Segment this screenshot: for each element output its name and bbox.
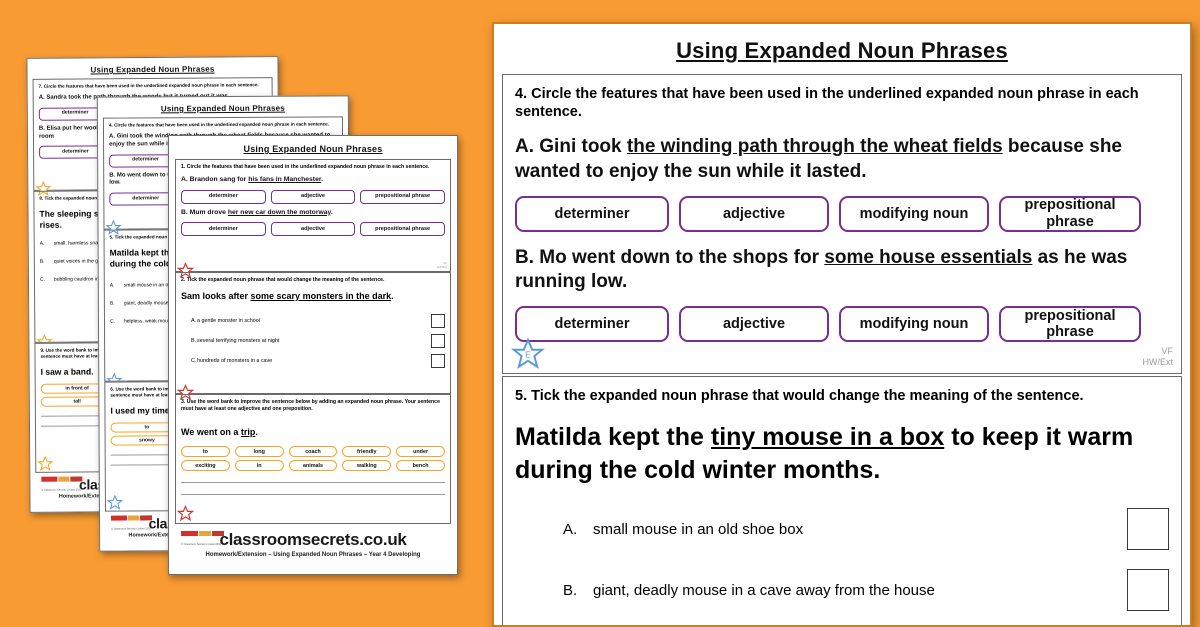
underlined-phrase: tiny mouse in a box [711,423,944,451]
copyright-text: © Classroom Secrets Limited 2020 [41,489,81,492]
option-determiner[interactable]: determiner [181,222,266,236]
q4-options-a: determiner adjective modifying noun prep… [515,196,1169,232]
star-icon [106,373,122,382]
tick-checkbox[interactable] [431,334,445,348]
sentence-prefix: We went on a [181,427,241,437]
thumb3-q3-sentence: We went on a trip. [181,427,445,439]
tick-checkbox[interactable] [1127,569,1169,611]
choice-label: B. [563,582,593,599]
choice-label: A. [40,241,54,247]
thumb3-q2-sentence: Sam looks after some scary monsters in t… [181,291,445,303]
star-icon [177,505,194,522]
q5-heading: 5. Tick the expanded noun phrase that wo… [515,387,1169,405]
copyright-text: © Classroom Secrets Limited 2020 [181,543,221,546]
option-adjective[interactable]: adjective [271,222,356,236]
choice-text: hundreds of monsters in a cave [197,358,272,364]
q5-sentence: Matilda kept the tiny mouse in a box to … [515,421,1169,486]
q4-options-b: determiner adjective modifying noun prep… [515,306,1169,342]
underlined-phrase: the winding path through the wheat field… [627,136,1003,157]
thumb3-q3-heading: 3. Use the word bank to improve the sent… [181,399,445,413]
sentence-prefix: A. Gini took [515,136,627,157]
word-bank-item[interactable]: animals [289,460,338,471]
q4-corner-mark: VF HW/Ext [1143,346,1174,367]
list-item[interactable]: B. giant, deadly mouse in a cave away fr… [515,569,1169,611]
star-icon [107,495,123,511]
choice-label: A. [181,318,197,324]
svg-text:E: E [525,350,531,360]
word-bank-item[interactable]: long [235,446,284,457]
word-bank-item[interactable]: exciting [181,460,230,471]
q4-sentence-a: A. Gini took the winding path through th… [515,135,1169,184]
word-bank-item[interactable]: under [396,446,445,457]
underlined-phrase: his fans in Manchester [248,176,321,183]
answer-line [181,494,445,495]
option-adjective[interactable]: adjective [679,196,829,232]
option-modifying-noun[interactable]: modifying noun [839,306,989,342]
option-determiner[interactable]: determiner [515,196,669,232]
thumb3-q1-heading: 1. Circle the features that have been us… [181,164,445,171]
option-prepositional-phrase[interactable]: prepositional phrase [360,222,445,236]
worksheet-thumbnail-3[interactable]: Using Expanded Noun Phrases 1. Circle th… [168,135,458,575]
list-item[interactable]: B.several terrifying monsters at night [181,334,445,348]
underlined-phrase: some scary monsters in the dark [251,291,392,301]
thumb3-title: Using Expanded Noun Phrases [175,139,451,159]
sentence-suffix: . [321,176,323,183]
choice-label: A. [110,283,124,289]
sentence-prefix: B. Mo went down to the shops for [515,247,824,268]
underlined-phrase: her new car down the motorway [228,209,331,216]
list-item[interactable]: C.hundreds of monsters in a cave [181,354,445,368]
choice-text: several terrifying monsters at night [197,338,279,344]
choice-label: A. [563,521,593,538]
sentence-suffix: . [255,427,258,437]
main-worksheet-page[interactable]: Using Expanded Noun Phrases 4. Circle th… [492,22,1192,627]
choice-label: C. [40,277,54,283]
thumb3-q2-heading: 2. Tick the expanded noun phrase that wo… [181,277,445,284]
underlined-phrase: some house essentials [824,247,1032,268]
option-prepositional-phrase[interactable]: prepositional phrase [360,190,445,204]
word-bank-item[interactable]: bench [396,460,445,471]
word-bank-item[interactable]: coach [289,446,338,457]
word-bank-item[interactable]: in [235,460,284,471]
q4-sentence-b: B. Mo went down to the shops for some ho… [515,246,1169,295]
thumb3-q1-corner-mark: VFHW/Ext [437,262,447,269]
choice-text: small mouse in an old shoe box [593,521,803,538]
thumb3-q1-options-a: determiner adjective prepositional phras… [181,190,445,204]
page-title: Using Expanded Noun Phrases [502,32,1182,74]
word-bank-item[interactable]: to [181,446,230,457]
thumb3-word-bank: to long coach friendly under exciting in… [181,446,445,471]
sentence-suffix: . [391,291,394,301]
classroom-secrets-logo-icon [41,476,83,488]
list-item[interactable]: A.a gentle monster in school [181,314,445,328]
thumb3-q1-options-b: determiner adjective prepositional phras… [181,222,445,236]
thumb2-title: Using Expanded Noun Phrases [103,99,343,117]
star-icon [36,334,52,343]
option-prepositional-phrase[interactable]: prepositional phrase [999,306,1141,342]
star-icon [37,456,53,472]
word-bank-item[interactable]: walking [342,460,391,471]
thumb1-title: Using Expanded Noun Phrases [32,60,272,79]
option-prepositional-phrase[interactable]: prepositional phrase [999,196,1141,232]
choice-text: a gentle monster in school [197,318,260,324]
copyright-text: © Classroom Secrets Limited 2020 [111,527,151,530]
answer-line [181,482,445,483]
thumb3-q1-sentence-b: B. Mum drove her new car down the motorw… [181,209,445,218]
option-modifying-noun[interactable]: modifying noun [839,196,989,232]
choice-label: B. [40,259,54,265]
underlined-phrase: trip [241,427,256,437]
tick-checkbox[interactable] [431,314,445,328]
corner-mark-line-1: VF [1143,346,1174,356]
thumb2-q4-heading: 4. Circle the features that have been us… [109,121,337,128]
sentence-prefix: A. Brandon sang for [181,176,248,183]
star-icon: E [511,337,545,371]
sentence-suffix: . [331,209,333,216]
page-canvas: Using Expanded Noun Phrases 7. Circle th… [0,0,1200,627]
question-5-block: 5. Tick the expanded noun phrase that wo… [502,376,1182,627]
word-bank-item[interactable]: friendly [342,446,391,457]
thumb3-footer: © Classroom Secrets Limited 2020 classro… [175,524,451,558]
thumb1-q7-heading: 7. Circle the features that have been us… [39,82,267,90]
sentence-prefix: Sam looks after [181,291,251,301]
classroom-secrets-logo-icon [111,515,153,527]
choice-label: C. [110,319,124,325]
choice-text: giant, deadly mouse in a cave away from … [593,582,935,599]
site-subtitle: Homework/Extension – Using Expanded Noun… [175,552,451,558]
q4-heading: 4. Circle the features that have been us… [515,85,1169,121]
choice-label: C. [181,358,197,364]
choice-label: B. [110,301,124,307]
question-4-block: 4. Circle the features that have been us… [502,74,1182,374]
sentence-prefix: Matilda kept the [515,423,711,451]
classroom-secrets-logo-icon [181,531,223,543]
option-adjective[interactable]: adjective [679,306,829,342]
thumb3-question-3: 3. Use the word bank to improve the sent… [175,394,451,524]
thumb3-q1-sentence-a: A. Brandon sang for his fans in Manchest… [181,176,445,185]
tick-checkbox[interactable] [1127,508,1169,550]
option-determiner[interactable]: determiner [181,190,266,204]
corner-mark-line-2: HW/Ext [1143,357,1174,367]
sentence-prefix: B. Mum drove [181,209,228,216]
thumb3-question-1: 1. Circle the features that have been us… [175,159,451,272]
list-item[interactable]: A. small mouse in an old shoe box [515,508,1169,550]
thumb3-question-2: 2. Tick the expanded noun phrase that wo… [175,272,451,394]
option-adjective[interactable]: adjective [271,190,356,204]
tick-checkbox[interactable] [431,354,445,368]
choice-label: B. [181,338,197,344]
